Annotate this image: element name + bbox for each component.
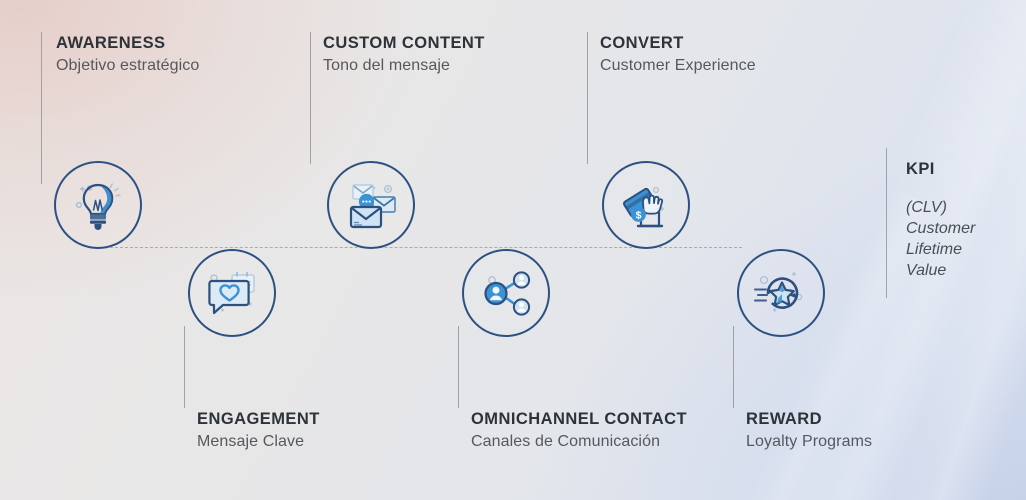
kpi-title: KPI bbox=[906, 160, 1016, 179]
kpi-divider bbox=[886, 148, 887, 298]
label-engagement: ENGAGEMENT Mensaje Clave bbox=[197, 409, 320, 453]
stage-title-reward: REWARD bbox=[746, 409, 872, 430]
card-payment-icon: $ bbox=[616, 176, 676, 234]
stem-reward bbox=[733, 326, 734, 408]
stage-subtitle-omnichannel-contact: Canales de Comunicación bbox=[471, 432, 687, 452]
stage-subtitle-convert: Customer Experience bbox=[600, 56, 756, 76]
label-awareness: AWARENESS Objetivo estratégico bbox=[56, 33, 199, 77]
stem-convert bbox=[587, 32, 588, 164]
chat-heart-icon bbox=[202, 264, 262, 322]
icon-node-custom-content[interactable] bbox=[327, 161, 415, 249]
kpi-block: KPI (CLV) Customer Lifetime Value bbox=[906, 160, 1016, 281]
stage-title-awareness: AWARENESS bbox=[56, 33, 199, 54]
icon-node-engagement[interactable] bbox=[188, 249, 276, 337]
stage-subtitle-reward: Loyalty Programs bbox=[746, 432, 872, 452]
network-users-icon bbox=[476, 264, 536, 322]
label-omnichannel-contact: OMNICHANNEL CONTACT Canales de Comunicac… bbox=[471, 409, 687, 453]
envelopes-icon bbox=[341, 176, 401, 234]
stage-title-custom-content: CUSTOM CONTENT bbox=[323, 33, 485, 54]
stage-subtitle-custom-content: Tono del mensaje bbox=[323, 56, 485, 76]
label-reward: REWARD Loyalty Programs bbox=[746, 409, 872, 453]
svg-text:$: $ bbox=[636, 209, 642, 221]
stage-subtitle-engagement: Mensaje Clave bbox=[197, 432, 320, 452]
stage-subtitle-awareness: Objetivo estratégico bbox=[56, 56, 199, 76]
kpi-description: (CLV) Customer Lifetime Value bbox=[906, 197, 1016, 281]
marketing-funnel-infographic: AWARENESS Objetivo estratégico bbox=[0, 0, 1026, 500]
icon-node-reward[interactable] bbox=[737, 249, 825, 337]
stem-omnichannel-contact bbox=[458, 326, 459, 408]
icon-node-convert[interactable]: $ bbox=[602, 161, 690, 249]
label-custom-content: CUSTOM CONTENT Tono del mensaje bbox=[323, 33, 485, 77]
stage-title-convert: CONVERT bbox=[600, 33, 756, 54]
icon-node-omnichannel-contact[interactable] bbox=[462, 249, 550, 337]
stage-title-omnichannel-contact: OMNICHANNEL CONTACT bbox=[471, 409, 687, 430]
lightbulb-icon bbox=[69, 176, 127, 234]
star-loyalty-icon bbox=[751, 264, 811, 322]
stem-engagement bbox=[184, 326, 185, 408]
icon-node-awareness[interactable] bbox=[54, 161, 142, 249]
stem-custom-content bbox=[310, 32, 311, 164]
stage-title-engagement: ENGAGEMENT bbox=[197, 409, 320, 430]
stem-awareness bbox=[41, 32, 42, 184]
label-convert: CONVERT Customer Experience bbox=[600, 33, 756, 77]
